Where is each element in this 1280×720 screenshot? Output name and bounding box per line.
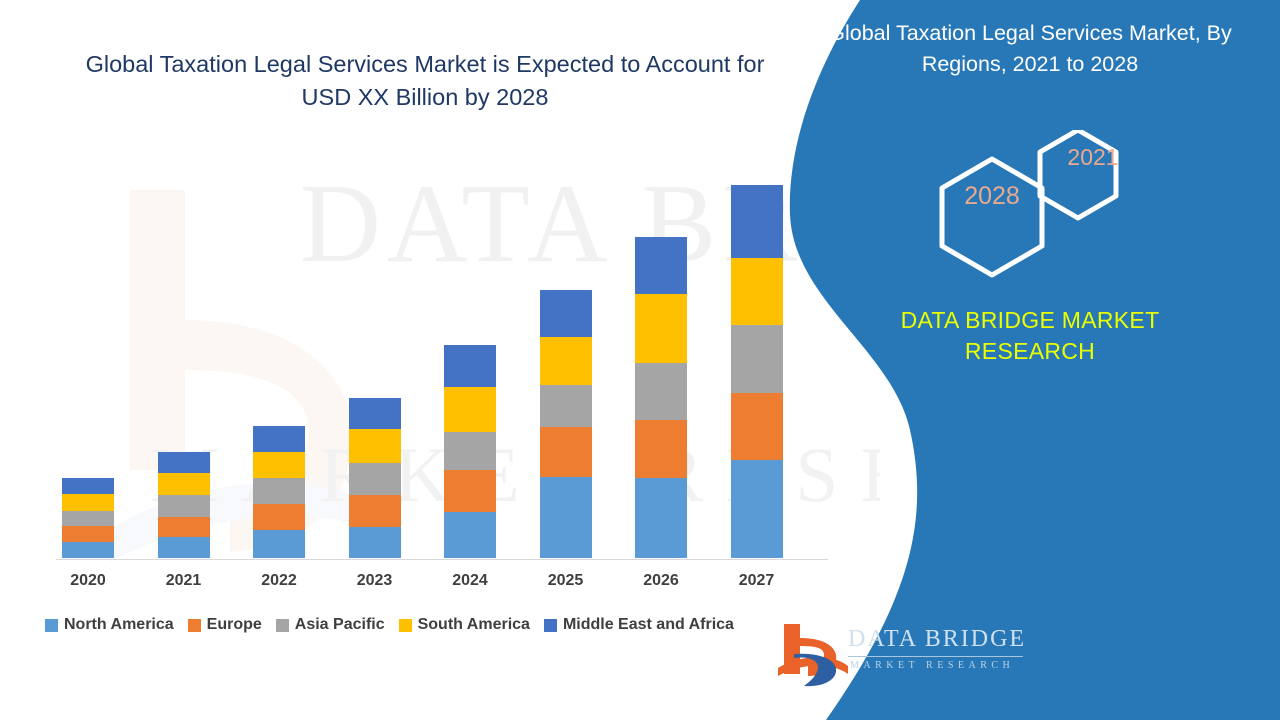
bar-segment-asia-pacific: [444, 432, 496, 470]
bar-segment-south-america: [158, 473, 210, 495]
legend-item[interactable]: Asia Pacific: [276, 616, 385, 634]
legend-label: North America: [64, 616, 174, 634]
bar-segment-north-america: [253, 530, 305, 558]
hexagon-label-right: 2021: [1038, 144, 1148, 171]
page-title: Global Taxation Legal Services Market is…: [60, 48, 790, 115]
x-tick-label: 2025: [540, 572, 592, 590]
bar-segment-middle-east-and-africa: [444, 345, 496, 387]
x-tick-label: 2022: [253, 572, 305, 590]
legend-label: Europe: [207, 616, 262, 634]
bar-segment-europe: [444, 470, 496, 512]
legend-label: Middle East and Africa: [563, 616, 734, 634]
bar-segment-asia-pacific: [158, 495, 210, 517]
logo-mark-icon: [776, 618, 856, 688]
bar-segment-middle-east-and-africa: [158, 452, 210, 473]
bar-stack: [444, 345, 496, 558]
bar-segment-north-america: [540, 477, 592, 558]
bar-segment-north-america: [349, 527, 401, 558]
bar-segment-middle-east-and-africa: [253, 426, 305, 452]
legend-item[interactable]: Middle East and Africa: [544, 616, 734, 634]
bar-segment-middle-east-and-africa: [349, 398, 401, 429]
x-tick-label: 2026: [635, 572, 687, 590]
bar-segment-middle-east-and-africa: [635, 237, 687, 294]
bar-segment-europe: [253, 504, 305, 530]
legend-swatch-icon: [45, 619, 58, 632]
bar-stack: [253, 426, 305, 558]
bar-segment-asia-pacific: [349, 463, 401, 495]
bar-segment-south-america: [540, 337, 592, 385]
bar-segment-europe: [62, 526, 114, 542]
legend-label: Asia Pacific: [295, 616, 385, 634]
brand-panel-title: Global Taxation Legal Services Market, B…: [810, 18, 1250, 80]
hexagon-badges: 2028 2021: [880, 130, 1220, 290]
bar-segment-south-america: [635, 294, 687, 363]
plot-area: [40, 150, 830, 560]
bar-segment-north-america: [635, 478, 687, 558]
infographic-slide: DATA BRIDGE MARKET RESEARCH Global Taxat…: [0, 0, 1280, 720]
bar-segment-asia-pacific: [540, 385, 592, 427]
bar-segment-europe: [540, 427, 592, 477]
legend-swatch-icon: [399, 619, 412, 632]
bar-stack: [349, 398, 401, 558]
bar-segment-south-america: [253, 452, 305, 478]
bar-segment-middle-east-and-africa: [62, 478, 114, 494]
x-tick-label: 2023: [349, 572, 401, 590]
bar-segment-north-america: [444, 512, 496, 558]
hexagon-label-left: 2028: [932, 182, 1052, 211]
x-axis-tick-labels: 20202021202220232024202520262027: [40, 572, 830, 596]
bar-segment-middle-east-and-africa: [540, 290, 592, 337]
bar-segment-north-america: [62, 542, 114, 558]
brand-name: DATA BRIDGE MARKET RESEARCH: [860, 305, 1200, 367]
legend-label: South America: [418, 616, 530, 634]
bar-segment-south-america: [62, 494, 114, 511]
legend-swatch-icon: [544, 619, 557, 632]
bar-stack: [158, 452, 210, 558]
bar-segment-europe: [158, 517, 210, 537]
bar-stack: [540, 290, 592, 558]
logo-divider: [848, 656, 1023, 657]
bar-segment-asia-pacific: [62, 511, 114, 526]
brand-panel: Global Taxation Legal Services Market, B…: [760, 0, 1280, 720]
bar-segment-asia-pacific: [635, 363, 687, 420]
bar-stack: [62, 478, 114, 558]
company-logo: DATA BRIDGE MARKET RESEARCH: [770, 612, 1030, 688]
bar-segment-asia-pacific: [253, 478, 305, 504]
chart-legend: North AmericaEuropeAsia PacificSouth Ame…: [45, 616, 835, 634]
bar-segment-europe: [349, 495, 401, 527]
logo-secondary-text: MARKET RESEARCH: [850, 660, 1014, 671]
legend-swatch-icon: [188, 619, 201, 632]
x-tick-label: 2024: [444, 572, 496, 590]
legend-swatch-icon: [276, 619, 289, 632]
x-tick-label: 2021: [158, 572, 210, 590]
chart-panel: DATA BRIDGE MARKET RESEARCH Global Taxat…: [0, 0, 880, 720]
logo-primary-text: DATA BRIDGE: [848, 626, 1026, 653]
bar-stack: [635, 237, 687, 558]
legend-item[interactable]: South America: [399, 616, 530, 634]
bar-segment-south-america: [349, 429, 401, 463]
bar-series-container: [40, 150, 830, 559]
bar-segment-north-america: [158, 537, 210, 558]
x-axis-line: [56, 559, 828, 560]
legend-item[interactable]: Europe: [188, 616, 262, 634]
bar-segment-south-america: [444, 387, 496, 432]
legend-item[interactable]: North America: [45, 616, 174, 634]
bar-segment-europe: [635, 420, 687, 478]
x-tick-label: 2020: [62, 572, 114, 590]
